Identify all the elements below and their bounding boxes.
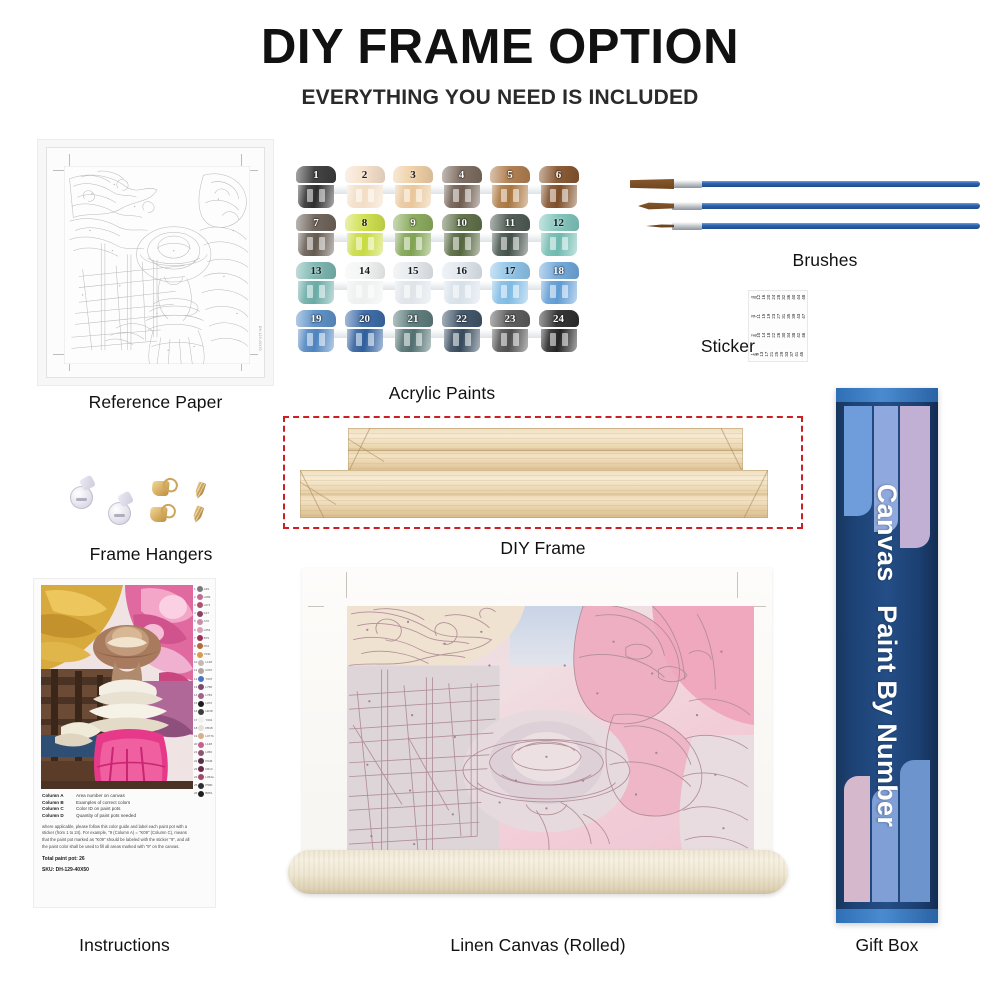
brush-liner-fine bbox=[630, 220, 980, 232]
paint-pot-number: 24 bbox=[539, 310, 579, 327]
legend-row: 22P046 bbox=[194, 757, 212, 765]
legend-color-code: L784 bbox=[205, 694, 212, 697]
legend-row: 13L758 bbox=[194, 683, 212, 691]
paint-pot-18: 18 bbox=[539, 262, 579, 306]
plastic-hook-icon bbox=[70, 486, 93, 509]
instructions-column-desc: Area number on canvas bbox=[76, 793, 125, 798]
paint-pot-number: 13 bbox=[296, 262, 336, 279]
paint-pot-number: 3 bbox=[393, 166, 433, 183]
sticker-row: 3711151923273135394347 bbox=[752, 314, 804, 319]
legend-color-swatch bbox=[198, 758, 204, 764]
canvas-printed-outline bbox=[347, 606, 754, 854]
legend-color-code: L148 bbox=[205, 661, 212, 664]
legend-index: 6 bbox=[194, 629, 196, 632]
caption-acrylic-paints: Acrylic Paints bbox=[296, 383, 588, 404]
instructions-column-row: Column DQuantity of paint pots needed bbox=[42, 813, 190, 818]
legend-row: 10L148 bbox=[194, 659, 212, 667]
paint-pot-2: 2 bbox=[345, 166, 385, 210]
paint-pot-5: 5 bbox=[490, 166, 530, 210]
instructions-column-row: Column AArea number on canvas bbox=[42, 793, 190, 798]
legend-color-code: Y007 bbox=[205, 678, 212, 681]
legend-color-code: K47 bbox=[204, 612, 209, 615]
legend-row: 21L050 bbox=[194, 749, 212, 757]
legend-color-swatch bbox=[198, 750, 204, 756]
sticker-number: 47 bbox=[802, 314, 807, 319]
paint-pot-number: 20 bbox=[345, 310, 385, 327]
paint-pot-11: 11 bbox=[490, 214, 530, 258]
legend-index: 19 bbox=[194, 735, 197, 738]
paint-pot-number: 6 bbox=[539, 166, 579, 183]
legend-color-swatch bbox=[197, 635, 203, 641]
plastic-hook-icon bbox=[108, 502, 131, 525]
legend-color-swatch bbox=[197, 652, 203, 658]
legend-row: 15L072 bbox=[194, 700, 212, 708]
paint-pot-number: 4 bbox=[442, 166, 482, 183]
legend-row: 26B651 bbox=[194, 790, 212, 798]
legend-index: 2 bbox=[194, 596, 196, 599]
paint-pot-15: 15 bbox=[393, 262, 433, 306]
legend-row: 14L784 bbox=[194, 691, 212, 699]
instructions-column-label: Column B bbox=[42, 800, 72, 805]
stretcher-bar-bottom bbox=[300, 470, 768, 518]
legend-index: 7 bbox=[194, 637, 196, 640]
legend-color-code: L054a bbox=[205, 776, 213, 779]
legend-index: 20 bbox=[194, 743, 197, 746]
caption-sticker: Sticker bbox=[640, 336, 755, 357]
frame-hangers-group bbox=[66, 470, 236, 540]
gift-box-item: Canvas Paint By Number bbox=[836, 388, 938, 923]
legend-row: 11C067 bbox=[194, 667, 212, 675]
instructions-total-pots: Total paint pot: 26 bbox=[42, 856, 190, 862]
instructions-reference-art bbox=[41, 585, 193, 789]
legend-color-swatch bbox=[198, 693, 204, 699]
legend-index: 15 bbox=[194, 702, 197, 705]
legend-color-code: B79 bbox=[204, 637, 209, 640]
brush-flat bbox=[630, 178, 980, 190]
legend-index: 14 bbox=[194, 694, 197, 697]
paint-pot-6: 6 bbox=[539, 166, 579, 210]
paint-pot-number: 21 bbox=[393, 310, 433, 327]
gift-box-line1: Canvas bbox=[873, 484, 903, 582]
paint-pot-10: 10 bbox=[442, 214, 482, 258]
sticker-row: 159131721252933374145 bbox=[752, 352, 804, 357]
legend-color-swatch bbox=[198, 742, 204, 748]
legend-color-code: L071 bbox=[204, 604, 211, 607]
linen-canvas-item bbox=[288, 568, 788, 910]
instructions-column-desc: Examples of correct colors bbox=[76, 800, 130, 805]
paint-pot-16: 16 bbox=[442, 262, 482, 306]
instructions-sheet: 1A392L0893L0714K475A706L6547B798P049Y031… bbox=[33, 578, 216, 908]
reference-paper-sidenote: DH-129-40X50 bbox=[258, 326, 262, 351]
legend-color-code: L148 bbox=[205, 743, 212, 746]
paint-pot-number: 22 bbox=[442, 310, 482, 327]
legend-color-code: B651 bbox=[205, 792, 212, 795]
legend-row: 25P580 bbox=[194, 782, 212, 790]
paint-pot-row: 192021222324 bbox=[296, 310, 588, 354]
legend-index: 1 bbox=[194, 588, 196, 591]
gift-box-line2: Paint By Number bbox=[873, 605, 903, 827]
legend-color-code: H048 bbox=[205, 710, 212, 713]
legend-color-swatch bbox=[198, 668, 204, 674]
legend-color-code: Y031 bbox=[204, 653, 211, 656]
paint-pot-number: 17 bbox=[490, 262, 530, 279]
reference-paper-lineart bbox=[64, 166, 250, 364]
legend-row: 4K47 bbox=[194, 610, 212, 618]
legend-color-swatch bbox=[197, 627, 203, 633]
instructions-color-legend: 1A392L0893L0714K475A706L6547B798P049Y031… bbox=[194, 585, 212, 815]
legend-color-swatch bbox=[197, 586, 203, 592]
paint-pot-1: 1 bbox=[296, 166, 336, 210]
paint-pot-row: 131415161718 bbox=[296, 262, 588, 306]
legend-row: 17Y001 bbox=[194, 716, 212, 724]
legend-row: 9Y031 bbox=[194, 651, 212, 659]
paint-pot-number: 8 bbox=[345, 214, 385, 231]
legend-index: 11 bbox=[194, 669, 197, 672]
legend-index: 18 bbox=[194, 727, 197, 730]
instructions-column-desc: Color ID on paint pots bbox=[76, 806, 120, 811]
instructions-note: where applicable, please follow this col… bbox=[42, 824, 190, 851]
paint-pot-number: 19 bbox=[296, 310, 336, 327]
paint-pot-4: 4 bbox=[442, 166, 482, 210]
legend-color-swatch bbox=[198, 676, 204, 682]
legend-index: 26 bbox=[194, 792, 197, 795]
legend-color-swatch bbox=[198, 660, 204, 666]
caption-instructions: Instructions bbox=[33, 935, 216, 956]
paint-pot-number: 14 bbox=[345, 262, 385, 279]
paint-pot-number: 12 bbox=[539, 214, 579, 231]
caption-frame-hangers: Frame Hangers bbox=[46, 544, 256, 565]
reference-paper-sheet: DH-129-40X50 bbox=[46, 147, 265, 378]
legend-index: 21 bbox=[194, 751, 197, 754]
legend-index: 12 bbox=[194, 678, 197, 681]
legend-color-code: L077b bbox=[205, 735, 213, 738]
legend-row: 16H048 bbox=[194, 708, 212, 716]
page-subtitle: EVERYTHING YOU NEED IS INCLUDED bbox=[0, 86, 1000, 110]
paint-pot-13: 13 bbox=[296, 262, 336, 306]
sticker-sheet: 4812162024283236404448371115192327313539… bbox=[748, 290, 808, 362]
legend-index: 8 bbox=[194, 645, 196, 648]
instructions-column-key: Column AArea number on canvasColumn BExa… bbox=[42, 793, 190, 818]
paint-pot-24: 24 bbox=[539, 310, 579, 354]
legend-color-code: L758 bbox=[205, 686, 212, 689]
legend-index: 13 bbox=[194, 686, 197, 689]
instructions-column-label: Column D bbox=[42, 813, 72, 818]
legend-row: 7B79 bbox=[194, 634, 212, 642]
legend-color-code: P046 bbox=[205, 760, 212, 763]
legend-index: 25 bbox=[194, 784, 197, 787]
instructions-column-desc: Quantity of paint pots needed bbox=[76, 813, 136, 818]
acrylic-paints-group: 123456789101112131415161718192021222324 bbox=[296, 166, 588, 362]
instructions-column-label: Column A bbox=[42, 793, 72, 798]
legend-color-code: L050 bbox=[205, 751, 212, 754]
canvas-roll bbox=[288, 850, 788, 894]
paint-pot-7: 7 bbox=[296, 214, 336, 258]
legend-index: 16 bbox=[194, 710, 197, 713]
legend-color-code: P04 bbox=[204, 645, 209, 648]
screw-icon bbox=[194, 481, 207, 500]
canvas-crop-mark bbox=[737, 572, 738, 598]
canvas-crop-mark bbox=[346, 572, 347, 598]
caption-linen-canvas: Linen Canvas (Rolled) bbox=[288, 935, 788, 956]
legend-index: 3 bbox=[194, 604, 196, 607]
paint-pot-number: 1 bbox=[296, 166, 336, 183]
legend-color-swatch bbox=[198, 791, 204, 797]
instructions-column-row: Column BExamples of correct colors bbox=[42, 800, 190, 805]
paint-pot-number: 2 bbox=[345, 166, 385, 183]
legend-color-code: A39 bbox=[204, 588, 209, 591]
legend-color-code: Y001 bbox=[205, 719, 212, 722]
legend-index: 9 bbox=[194, 653, 196, 656]
sticker-number: 45 bbox=[800, 352, 805, 357]
paint-pot-number: 23 bbox=[490, 310, 530, 327]
legend-row: 2L089 bbox=[194, 593, 212, 601]
paint-pot-row: 789101112 bbox=[296, 214, 588, 258]
paint-pot-number: 11 bbox=[490, 214, 530, 231]
paint-pot-14: 14 bbox=[345, 262, 385, 306]
d-ring-hanger-icon bbox=[150, 504, 176, 522]
paint-pot-number: 18 bbox=[539, 262, 579, 279]
legend-row: 18D548 bbox=[194, 724, 212, 732]
paint-pot-19: 19 bbox=[296, 310, 336, 354]
paint-pot-12: 12 bbox=[539, 214, 579, 258]
legend-color-swatch bbox=[198, 717, 204, 723]
paint-pot-20: 20 bbox=[345, 310, 385, 354]
legend-row: 19L077b bbox=[194, 732, 212, 740]
legend-color-swatch bbox=[197, 611, 203, 617]
instructions-sku: SKU: DH-129-40X50 bbox=[42, 867, 190, 873]
instructions-text-block: Column AArea number on canvasColumn BExa… bbox=[42, 793, 190, 873]
gift-box-label: Canvas Paint By Number bbox=[836, 388, 938, 923]
legend-row: 23D613 bbox=[194, 765, 212, 773]
caption-diy-frame: DIY Frame bbox=[283, 538, 803, 559]
caption-gift-box: Gift Box bbox=[836, 935, 938, 956]
paint-pot-number: 16 bbox=[442, 262, 482, 279]
legend-row: 20L148 bbox=[194, 741, 212, 749]
legend-row: 6L654 bbox=[194, 626, 212, 634]
legend-color-swatch bbox=[198, 684, 204, 690]
legend-color-swatch bbox=[198, 783, 204, 789]
legend-color-swatch bbox=[198, 709, 204, 715]
canvas-sheet bbox=[302, 568, 772, 864]
sticker-row: 2610141822263034384246 bbox=[752, 333, 804, 338]
legend-color-code: D613 bbox=[205, 768, 212, 771]
instructions-column-row: Column CColor ID on paint pots bbox=[42, 806, 190, 811]
paint-pot-number: 5 bbox=[490, 166, 530, 183]
legend-index: 5 bbox=[194, 620, 196, 623]
legend-index: 4 bbox=[194, 612, 196, 615]
paint-pot-17: 17 bbox=[490, 262, 530, 306]
reference-paper-item: DH-129-40X50 bbox=[38, 140, 273, 385]
brush-round-medium bbox=[630, 200, 980, 212]
legend-color-swatch bbox=[197, 619, 203, 625]
legend-color-code: L072 bbox=[205, 702, 212, 705]
legend-color-code: D548 bbox=[205, 727, 212, 730]
d-ring-hanger-icon bbox=[152, 478, 178, 496]
paint-pot-row: 123456 bbox=[296, 166, 588, 210]
canvas-crop-mark bbox=[308, 606, 324, 607]
header: DIY FRAME OPTION EVERYTHING YOU NEED IS … bbox=[0, 22, 1000, 110]
legend-color-swatch bbox=[198, 701, 204, 707]
legend-color-swatch bbox=[198, 774, 204, 780]
paint-pot-number: 9 bbox=[393, 214, 433, 231]
brushes-group bbox=[620, 170, 980, 250]
legend-color-swatch bbox=[197, 602, 203, 608]
legend-color-code: L089 bbox=[204, 596, 211, 599]
legend-color-swatch bbox=[197, 643, 203, 649]
legend-color-code: L654 bbox=[204, 629, 211, 632]
legend-row: 24L054a bbox=[194, 773, 212, 781]
legend-color-code: C067 bbox=[205, 669, 212, 672]
paint-pot-3: 3 bbox=[393, 166, 433, 210]
stretcher-bar-top bbox=[348, 428, 743, 473]
legend-color-swatch bbox=[198, 725, 204, 731]
paint-pot-22: 22 bbox=[442, 310, 482, 354]
legend-row: 3L071 bbox=[194, 601, 212, 609]
diy-frame-item bbox=[283, 416, 803, 529]
sticker-number: 48 bbox=[802, 295, 807, 300]
legend-row: 5A70 bbox=[194, 618, 212, 626]
legend-color-swatch bbox=[198, 766, 204, 772]
sticker-row: 4812162024283236404448 bbox=[752, 295, 804, 300]
legend-row: 1A39 bbox=[194, 585, 212, 593]
legend-row: 8P04 bbox=[194, 642, 212, 650]
legend-color-code: A70 bbox=[204, 620, 209, 623]
legend-index: 17 bbox=[194, 719, 197, 722]
paint-pot-9: 9 bbox=[393, 214, 433, 258]
caption-brushes: Brushes bbox=[760, 250, 890, 271]
instructions-column-label: Column C bbox=[42, 806, 72, 811]
paint-pot-8: 8 bbox=[345, 214, 385, 258]
legend-color-swatch bbox=[198, 733, 204, 739]
paint-pot-21: 21 bbox=[393, 310, 433, 354]
caption-reference-paper: Reference Paper bbox=[38, 392, 273, 413]
legend-index: 23 bbox=[194, 768, 197, 771]
paint-pot-23: 23 bbox=[490, 310, 530, 354]
paint-pot-number: 15 bbox=[393, 262, 433, 279]
page-title: DIY FRAME OPTION bbox=[0, 22, 1000, 73]
paint-pot-number: 10 bbox=[442, 214, 482, 231]
legend-color-swatch bbox=[197, 594, 203, 600]
legend-index: 24 bbox=[194, 776, 197, 779]
legend-index: 10 bbox=[194, 661, 197, 664]
sticker-number: 46 bbox=[802, 333, 807, 338]
legend-color-code: P580 bbox=[205, 784, 212, 787]
screw-icon bbox=[192, 505, 205, 524]
legend-index: 22 bbox=[194, 760, 197, 763]
legend-row: 12Y007 bbox=[194, 675, 212, 683]
paint-pot-number: 7 bbox=[296, 214, 336, 231]
